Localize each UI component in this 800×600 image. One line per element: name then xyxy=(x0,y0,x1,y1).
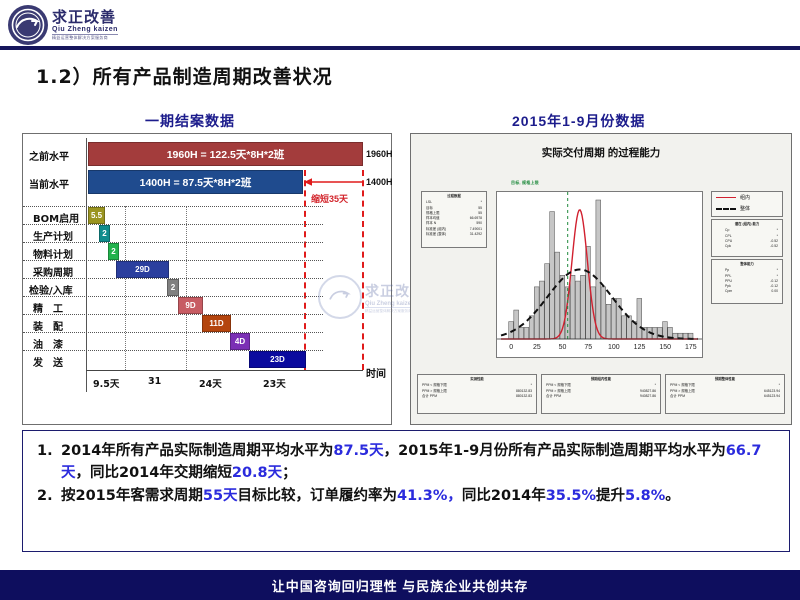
ppm-key: 合计 PPM xyxy=(422,394,437,399)
ppm-header: 实测性能 xyxy=(419,377,535,382)
row-label-material: 物料计划 xyxy=(33,246,73,261)
left-panel-heading: 一期结案数据 xyxy=(145,111,235,131)
axis-title-time: 时间 xyxy=(366,365,386,380)
note-number: 2. xyxy=(31,485,61,507)
ppm-header: 预期组内性能 xyxy=(543,377,659,382)
brand-text: 求正改善 Qiu Zheng kaizen 精益运营整体解决方案服务商 xyxy=(52,10,118,40)
task-bar-material: 2 xyxy=(108,243,119,260)
note-highlight: 5.8% xyxy=(625,488,665,504)
svg-text:100: 100 xyxy=(608,344,620,351)
legend-label-overall: 整体 xyxy=(740,205,750,212)
note-item: 2. 按2015年客需求周期55天目标比较，订单履约率为41.3%，同比2014… xyxy=(31,485,781,507)
note-span: 按2015年客需求周期 xyxy=(61,488,203,504)
endlabel-previous: 1960H xyxy=(366,149,393,159)
endlabel-current: 1400H xyxy=(366,177,393,187)
ppm-value: 940827.86 xyxy=(640,394,656,399)
ppm-box-within: 预期组内性能 PPM < 规格下限* PPM > 规格上限940827.86 合… xyxy=(541,374,661,414)
row-sep-6 xyxy=(23,296,323,297)
capability-chart-title: 实际交付周期 的过程能力 xyxy=(411,145,791,160)
axis-tick-3: 24天 xyxy=(199,376,222,390)
note-span: 。 xyxy=(665,488,680,504)
ppm-value: 880132.83 xyxy=(516,394,532,399)
axis-tick-2: 31 xyxy=(148,376,161,387)
row-label-delivery: 发 送 xyxy=(33,354,63,369)
brand-tagline: 精益运营整体解决方案服务商 xyxy=(52,34,118,40)
grid-line-1 xyxy=(125,206,126,370)
process-capability-report: 实际交付周期 的过程能力 过程数据 LSL* 目标55 规格上限55 样本均值6… xyxy=(410,133,792,425)
row-sep-3 xyxy=(23,242,323,243)
row-sep-4 xyxy=(23,260,323,261)
shorten-days-label: 缩短35天 xyxy=(311,192,348,205)
ppm-box-overall: 预期整体性能 PPM < 规格下限* PPM > 规格上限645123.94 合… xyxy=(665,374,785,414)
svg-text:175: 175 xyxy=(685,344,697,351)
task-bar-machining: 9D xyxy=(178,297,203,314)
brand-name-en: Qiu Zheng kaizen xyxy=(52,26,118,33)
ppm-key: 合计 PPM xyxy=(670,394,685,399)
svg-text:25: 25 xyxy=(533,344,541,351)
stat-row: 标准差 (整体)31.4292 xyxy=(423,232,485,237)
task-bar-delivery: 23D xyxy=(249,351,306,368)
svg-text:125: 125 xyxy=(634,344,646,351)
shorten-arrow-icon xyxy=(304,177,364,187)
axis-tick-1: 9.5天 xyxy=(93,376,119,390)
row-sep-2 xyxy=(23,224,323,225)
slide-header: 求正改善 Qiu Zheng kaizen 精益运营整体解决方案服务商 xyxy=(0,0,800,52)
stat-value: 31.4292 xyxy=(470,232,482,237)
axis-tick-4: 23天 xyxy=(263,376,286,390)
note-span: ，同比2014年交期缩短 xyxy=(76,465,232,481)
task-bar-bom: 5.5 xyxy=(88,207,105,224)
summary-bar-current: 1400H = 87.5天*8H*2班 xyxy=(88,170,303,194)
row-sep-1 xyxy=(23,206,323,207)
row-label-current-level: 当前水平 xyxy=(29,176,69,191)
note-highlight: 35.5% xyxy=(546,488,596,504)
ppm-key: 合计 PPM xyxy=(546,394,561,399)
legend-item-within: 组内 xyxy=(712,192,782,203)
note-span: ，2015年1-9月份所有产品实际制造周期平均水平为 xyxy=(384,443,726,459)
note-text: 按2015年客需求周期55天目标比较，订单履约率为41.3%，同比2014年35… xyxy=(61,485,781,507)
note-span: 目标比较，订单履约率为 xyxy=(238,488,398,504)
ppm-row: 合计 PPM645123.94 xyxy=(667,394,783,399)
cap-value: 0.00 xyxy=(771,289,778,294)
note-item: 1. 2014年所有产品实际制造周期平均水平为87.5天，2015年1-9月份所… xyxy=(31,440,781,485)
legend-label-within: 组内 xyxy=(740,194,750,201)
svg-text:150: 150 xyxy=(659,344,671,351)
note-span: 同比2014年 xyxy=(462,488,546,504)
note-highlight: 20.8天 xyxy=(232,465,282,481)
cap-row: Cpm0.00 xyxy=(713,289,781,294)
circle-swoosh-logo-icon xyxy=(8,5,48,45)
note-highlight: 87.5天 xyxy=(333,443,383,459)
grid-line-2 xyxy=(186,206,187,370)
row-label-production: 生产计划 xyxy=(33,228,73,243)
note-span: 2014年所有产品实际制造周期平均水平为 xyxy=(61,443,333,459)
ppm-value: 645123.94 xyxy=(764,394,780,399)
cap-row: Cpk-0.52 xyxy=(713,244,781,249)
time-axis xyxy=(86,370,363,371)
cap-key: Cpk xyxy=(716,244,731,249)
note-highlight: 55天 xyxy=(203,488,238,504)
row-label-machining: 精 工 xyxy=(33,300,63,315)
ppm-header: 预期整体性能 xyxy=(667,377,783,382)
note-span: ； xyxy=(282,465,297,481)
brand-logo: 求正改善 Qiu Zheng kaizen 精益运营整体解决方案服务商 xyxy=(8,3,148,47)
row-label-previous-level: 之前水平 xyxy=(29,148,69,163)
note-number: 1. xyxy=(31,440,61,485)
red-marker-previous xyxy=(362,170,364,370)
overall-capability-header: 整体能力 xyxy=(713,262,781,267)
summary-notes-box: 1. 2014年所有产品实际制造周期平均水平为87.5天，2015年1-9月份所… xyxy=(22,430,790,552)
row-sep-7 xyxy=(23,314,323,315)
task-bar-purchase: 29D xyxy=(116,261,169,278)
spec-line-label: 目标, 规格上限 xyxy=(511,180,539,186)
note-text: 2014年所有产品实际制造周期平均水平为87.5天，2015年1-9月份所有产品… xyxy=(61,440,781,485)
svg-text:0: 0 xyxy=(509,344,513,351)
task-bar-painting: 4D xyxy=(230,333,250,350)
overall-capability-box: 整体能力 Pp* PPL* PPU-0.12 Ppk-0.12 Cpm0.00 xyxy=(711,259,783,304)
slide-footer: 让中国咨询回归理性 与民族企业共创共存 xyxy=(0,570,800,600)
row-label-assembly: 装 配 xyxy=(33,318,63,333)
capability-histogram: 0255075100125150175 xyxy=(496,191,703,358)
dashed-line-icon xyxy=(716,208,736,210)
within-capability-header: 潜在 (组内) 能力 xyxy=(713,222,781,227)
task-bar-assembly: 11D xyxy=(202,315,231,332)
svg-text:50: 50 xyxy=(559,344,567,351)
within-capability-box: 潜在 (组内) 能力 Cp* CPL* CPU-0.52 Cpk-0.52 xyxy=(711,219,783,257)
row-sep-8 xyxy=(23,332,323,333)
stat-key: 标准差 (整体) xyxy=(426,232,446,237)
cap-value: -0.52 xyxy=(770,244,778,249)
process-data-header: 过程数据 xyxy=(423,194,485,199)
ppm-box-observed: 实测性能 PPM < 规格下限* PPM > 规格上限880132.83 合计 … xyxy=(417,374,537,414)
footer-text: 让中国咨询回归理性 与民族企业共创共存 xyxy=(272,576,529,595)
row-label-purchase: 采购周期 xyxy=(33,264,73,279)
ppm-row: 合计 PPM940827.86 xyxy=(543,394,659,399)
note-span: 提升 xyxy=(596,488,625,504)
cap-key: Cpm xyxy=(716,289,732,294)
summary-bar-previous: 1960H = 122.5天*8H*2班 xyxy=(88,142,363,166)
page-title: 1.2）所有产品制造周期改善状况 xyxy=(36,62,333,89)
label-column-divider xyxy=(86,138,87,392)
task-bar-production: 2 xyxy=(99,225,110,242)
row-label-inspection: 检验/入库 xyxy=(29,282,73,297)
brand-name-cn: 求正改善 xyxy=(52,10,118,25)
histogram-svg: 0255075100125150175 xyxy=(497,192,702,357)
note-highlight: 41.3%， xyxy=(397,488,462,504)
header-divider xyxy=(0,46,800,50)
gantt-chart-panel: 之前水平 1960H = 122.5天*8H*2班 1960H 当前水平 140… xyxy=(22,133,392,425)
ppm-row: 合计 PPM880132.83 xyxy=(419,394,535,399)
task-bar-inspection: 2 xyxy=(167,279,179,296)
right-panel-heading: 2015年1-9月份数据 xyxy=(512,111,645,131)
row-label-bom: BOM启用 xyxy=(33,210,79,225)
process-data-box: 过程数据 LSL* 目标55 规格上限55 样本均值66.6978 样本 N59… xyxy=(421,191,487,248)
legend-box: 组内 整体 xyxy=(711,191,783,217)
svg-text:75: 75 xyxy=(584,344,592,351)
legend-item-overall: 整体 xyxy=(712,203,782,214)
red-marker-current xyxy=(304,170,306,370)
solid-line-icon xyxy=(716,197,736,198)
row-label-painting: 油 漆 xyxy=(33,336,63,351)
